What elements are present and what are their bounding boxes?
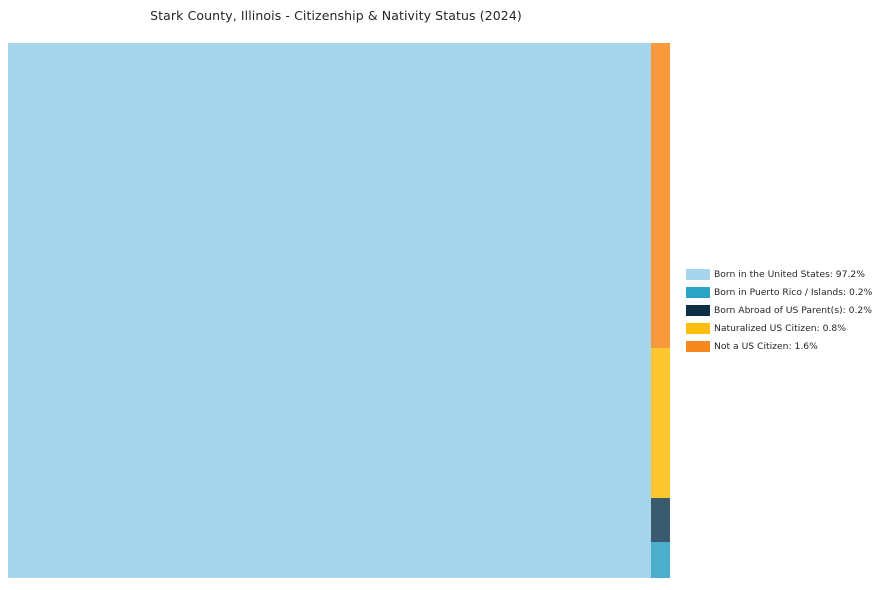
treemap-tile[interactable] xyxy=(651,43,670,348)
legend-item-label: Naturalized US Citizen: 0.8% xyxy=(714,323,846,334)
chart-legend: Born in the United States: 97.2%Born in … xyxy=(686,265,881,356)
legend-swatch-icon xyxy=(686,269,710,280)
legend-item-label: Born Abroad of US Parent(s): 0.2% xyxy=(714,305,872,316)
legend-swatch-icon xyxy=(686,287,710,298)
treemap-chart: Stark County, Illinois - Citizenship & N… xyxy=(0,0,889,590)
treemap-tile[interactable] xyxy=(8,43,651,578)
treemap-tile[interactable] xyxy=(651,498,670,542)
legend-item[interactable]: Not a US Citizen: 1.6% xyxy=(686,338,881,356)
legend-swatch-icon xyxy=(686,341,710,352)
legend-item[interactable]: Born Abroad of US Parent(s): 0.2% xyxy=(686,301,881,319)
legend-item[interactable]: Naturalized US Citizen: 0.8% xyxy=(686,320,881,338)
legend-item[interactable]: Born in Puerto Rico / Islands: 0.2% xyxy=(686,283,881,301)
legend-item[interactable]: Born in the United States: 97.2% xyxy=(686,265,881,283)
treemap-plot-area xyxy=(8,43,670,578)
legend-swatch-icon xyxy=(686,305,710,316)
legend-item-label: Born in Puerto Rico / Islands: 0.2% xyxy=(714,287,872,298)
legend-item-label: Born in the United States: 97.2% xyxy=(714,269,865,280)
treemap-tile[interactable] xyxy=(651,348,670,498)
chart-title: Stark County, Illinois - Citizenship & N… xyxy=(0,8,672,23)
treemap-tile[interactable] xyxy=(651,542,670,578)
legend-item-label: Not a US Citizen: 1.6% xyxy=(714,341,818,352)
legend-swatch-icon xyxy=(686,323,710,334)
